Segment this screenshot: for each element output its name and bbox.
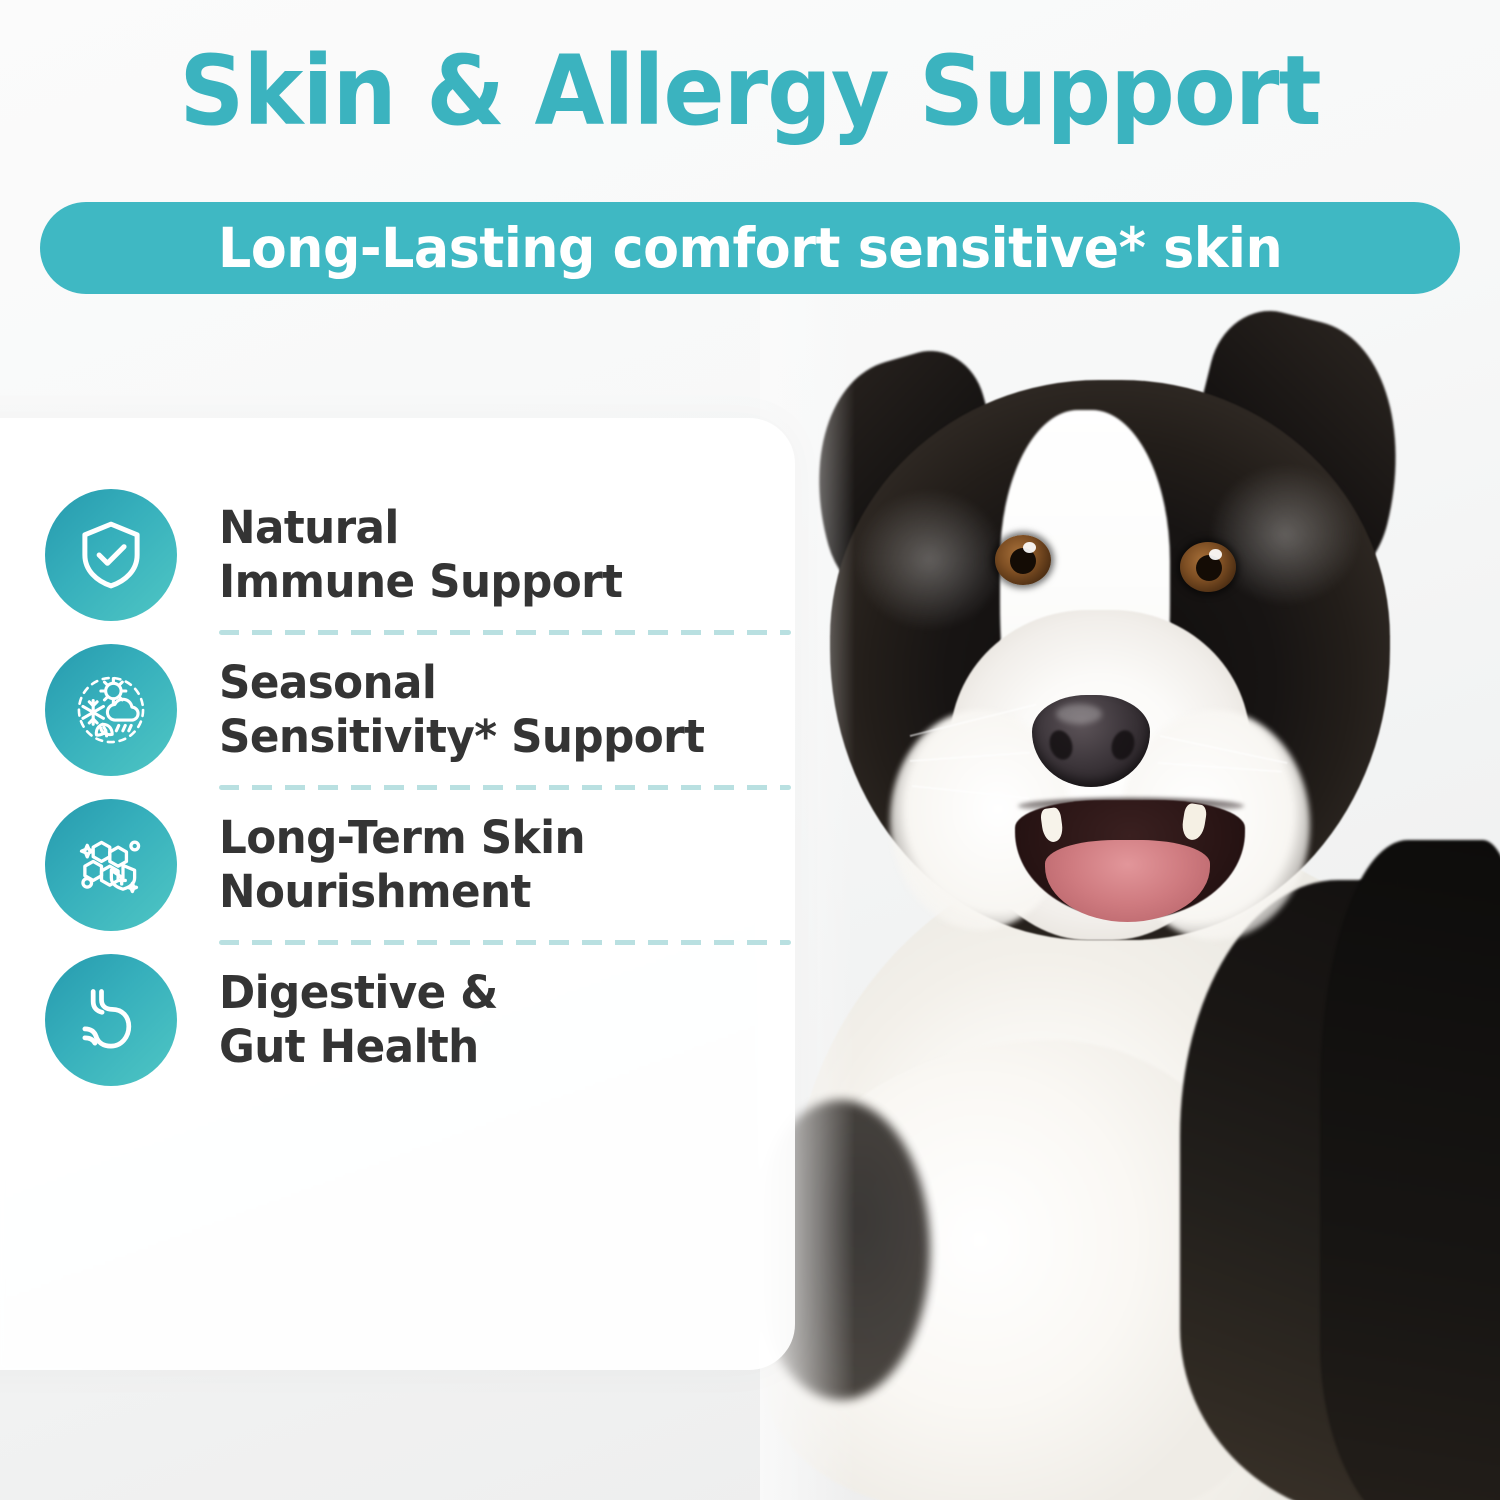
- subtitle-text: Long-Lasting comfort sensitive* skin: [218, 216, 1282, 280]
- subtitle-banner: Long-Lasting comfort sensitive* skin: [40, 202, 1460, 294]
- feature-label: Digestive & Gut Health: [219, 966, 498, 1074]
- feature-label: Natural Immune Support: [219, 501, 622, 609]
- feature-label: Seasonal Sensitivity* Support: [219, 656, 704, 764]
- product-infographic: Skin & Allergy Support Long-Lasting comf…: [0, 0, 1500, 1500]
- page-title: Skin & Allergy Support: [45, 36, 1455, 146]
- feature-item-digestive-health: Digestive & Gut Health: [45, 945, 805, 1095]
- feature-item-immune-support: Natural Immune Support: [45, 480, 805, 630]
- skin-molecule-shield-icon: [45, 799, 177, 931]
- stomach-icon: [45, 954, 177, 1086]
- feature-label: Long-Term Skin Nourishment: [219, 811, 585, 919]
- feature-item-seasonal-sensitivity: Seasonal Sensitivity* Support: [45, 635, 805, 785]
- shield-check-icon: [45, 489, 177, 621]
- border-collie-photo: [760, 280, 1500, 1500]
- feature-list: Natural Immune Support Seasonal Sensitiv…: [45, 480, 805, 1095]
- four-seasons-icon: [45, 644, 177, 776]
- feature-item-skin-nourishment: Long-Term Skin Nourishment: [45, 790, 805, 940]
